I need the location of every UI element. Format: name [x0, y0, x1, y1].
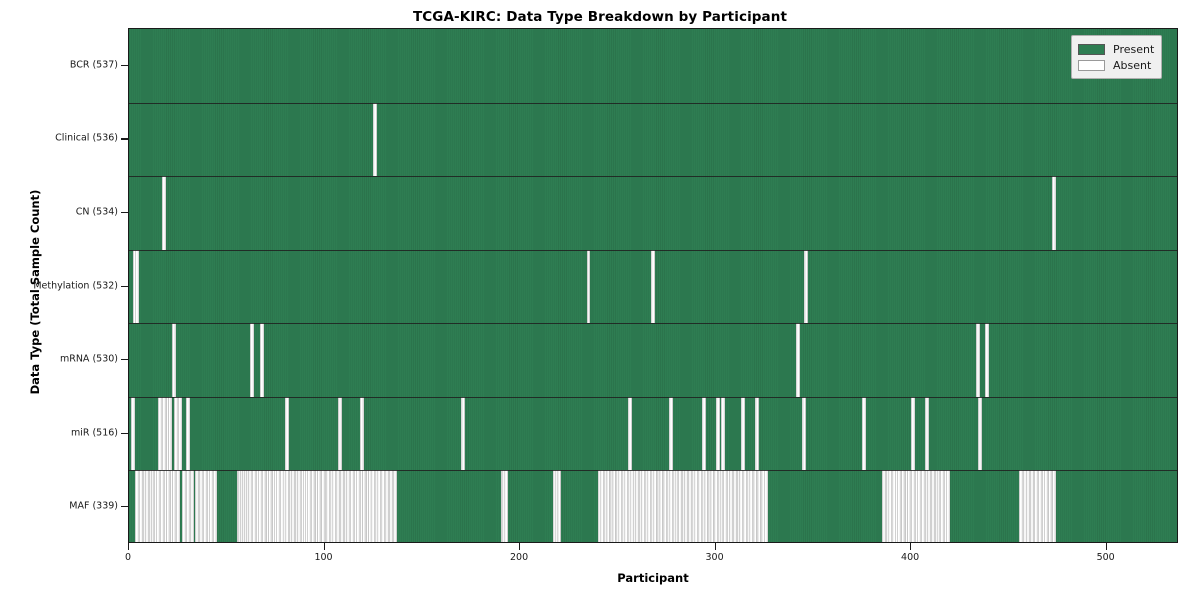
heatmap-cell-absent: [213, 470, 217, 543]
heatmap-cell-absent: [651, 250, 655, 324]
y-tick-mark: [121, 359, 128, 360]
x-tick-label-200: 200: [510, 552, 528, 563]
y-tick-label-bcr: BCR (537): [0, 59, 118, 70]
legend-item-absent: Absent: [1078, 57, 1154, 73]
heatmap-cell-absent: [373, 103, 377, 177]
row-divider: [129, 176, 1177, 177]
x-tick-mark: [128, 543, 129, 550]
legend-swatch-absent: [1078, 60, 1105, 71]
heatmap-row[interactable]: [129, 397, 1177, 471]
heatmap-cell-absent: [176, 470, 180, 543]
heatmap-cell-absent: [260, 323, 264, 397]
x-tick-label-500: 500: [1097, 552, 1115, 563]
heatmap-plot-area[interactable]: [128, 28, 1178, 543]
chart-title: TCGA-KIRC: Data Type Breakdown by Partic…: [0, 9, 1200, 25]
heatmap-cell-absent: [1052, 176, 1056, 250]
legend-swatch-present: [1078, 44, 1105, 55]
heatmap-cell-absent: [1052, 470, 1056, 543]
x-tick-mark: [519, 543, 520, 550]
y-tick-mark: [121, 433, 128, 434]
x-tick-label-100: 100: [314, 552, 332, 563]
heatmap-cell-absent: [946, 470, 950, 543]
heatmap-cell-absent: [587, 250, 591, 324]
heatmap-row[interactable]: [129, 29, 1177, 103]
y-tick-mark: [121, 212, 128, 213]
heatmap-cell-absent: [911, 397, 915, 471]
y-tick-label-methylation: Methylation (532): [0, 280, 118, 291]
y-tick-mark: [121, 138, 128, 139]
heatmap-row[interactable]: [129, 250, 1177, 324]
heatmap-cell-absent: [669, 397, 673, 471]
heatmap-cell-absent: [168, 397, 172, 471]
heatmap-cell-absent: [764, 470, 768, 543]
heatmap-cell-absent: [628, 397, 632, 471]
y-tick-label-clinical: Clinical (536): [0, 133, 118, 144]
heatmap-cell-absent: [716, 397, 720, 471]
heatmap-cell-absent: [178, 397, 182, 471]
heatmap-cell-absent: [702, 397, 706, 471]
heatmap-cell-absent: [338, 397, 342, 471]
heatmap-cell-absent: [135, 250, 139, 324]
heatmap-cell-absent: [190, 470, 194, 543]
row-divider: [129, 323, 1177, 324]
heatmap-cell-absent: [802, 397, 806, 471]
heatmap-cell-absent: [186, 397, 190, 471]
heatmap-cell-absent: [796, 323, 800, 397]
row-divider: [129, 250, 1177, 251]
x-tick-mark: [910, 543, 911, 550]
chart-figure: TCGA-KIRC: Data Type Breakdown by Partic…: [0, 0, 1200, 600]
heatmap-cell-absent: [285, 397, 289, 471]
heatmap-row[interactable]: [129, 176, 1177, 250]
heatmap-cell-absent: [250, 323, 254, 397]
heatmap-row[interactable]: [129, 323, 1177, 397]
heatmap-cell-absent: [172, 323, 176, 397]
heatmap-cell-absent: [925, 397, 929, 471]
heatmap-cell-absent: [461, 397, 465, 471]
heatmap-cell-absent: [862, 397, 866, 471]
y-tick-label-mrna: mRNA (530): [0, 354, 118, 365]
chart-legend[interactable]: Present Absent: [1071, 35, 1162, 79]
row-divider: [129, 397, 1177, 398]
y-tick-label-cn: CN (534): [0, 206, 118, 217]
heatmap-cell-absent: [504, 470, 508, 543]
x-tick-label-0: 0: [125, 552, 131, 563]
y-axis-label: Data Type (Total Sample Count): [28, 52, 42, 532]
heatmap-cell-absent: [804, 250, 808, 324]
x-tick-label-300: 300: [706, 552, 724, 563]
heatmap-cell-absent: [976, 323, 980, 397]
legend-label-present: Present: [1113, 43, 1154, 56]
x-axis-label: Participant: [128, 571, 1178, 585]
legend-item-present: Present: [1078, 41, 1154, 57]
row-divider: [129, 103, 1177, 104]
heatmap-row[interactable]: [129, 103, 1177, 177]
y-tick-label-maf: MAF (339): [0, 501, 118, 512]
y-tick-label-mir: miR (516): [0, 427, 118, 438]
row-divider: [129, 470, 1177, 471]
x-tick-label-400: 400: [901, 552, 919, 563]
heatmap-cell-absent: [755, 397, 759, 471]
heatmap-row[interactable]: [129, 470, 1177, 543]
heatmap-cell-absent: [360, 397, 364, 471]
y-tick-mark: [121, 65, 128, 66]
x-tick-mark: [1106, 543, 1107, 550]
heatmap-cell-absent: [721, 397, 725, 471]
y-tick-mark: [121, 506, 128, 507]
heatmap-cell-absent: [393, 470, 397, 543]
heatmap-cell-absent: [131, 397, 135, 471]
heatmap-cell-absent: [162, 176, 166, 250]
heatmap-cell-absent: [985, 323, 989, 397]
heatmap-cell-absent: [978, 397, 982, 471]
x-tick-mark: [715, 543, 716, 550]
heatmap-cell-absent: [741, 397, 745, 471]
legend-label-absent: Absent: [1113, 59, 1151, 72]
y-tick-mark: [121, 286, 128, 287]
x-tick-mark: [324, 543, 325, 550]
heatmap-cell-absent: [557, 470, 561, 543]
